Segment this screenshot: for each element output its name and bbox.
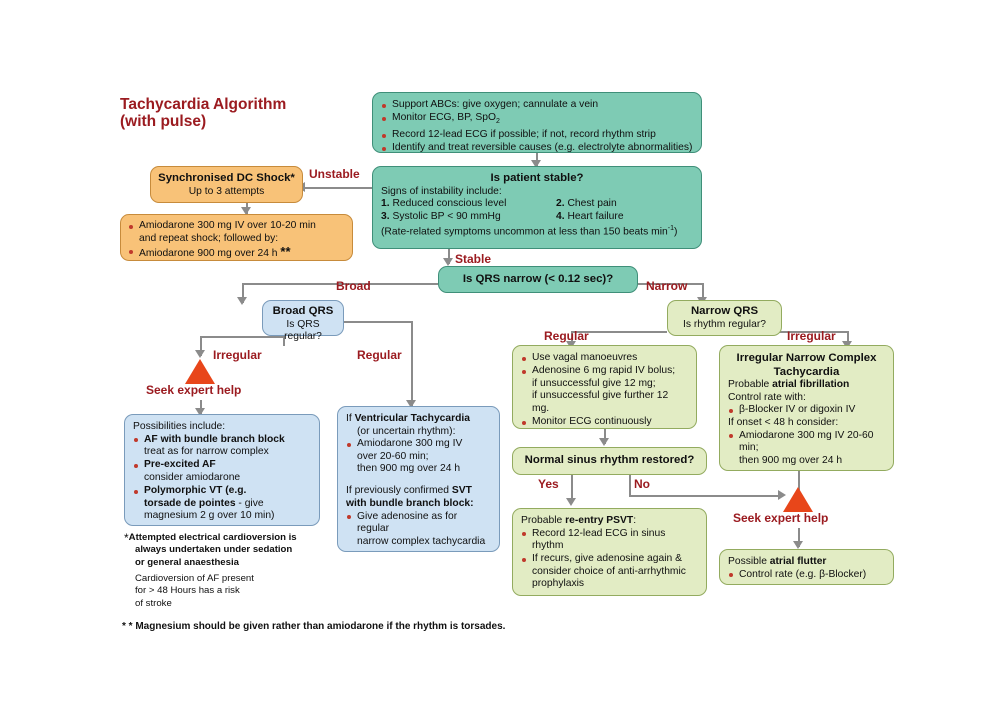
psvt-b2-l3: prophylaxis: [532, 578, 584, 589]
irrnarrow-b2-l1: Amiodarone 300 mg IV 20-60 min;: [739, 430, 874, 454]
vt-line-3: If previously confirmed SVT: [346, 485, 491, 498]
psvt-b2-l1: If recurs, give adenosine again &: [532, 553, 682, 564]
label-broad: Broad: [336, 280, 371, 293]
vt-l4-bold: with bundle branch block:: [346, 498, 474, 509]
psvt-l1-bold: re-entry PSVT: [565, 515, 633, 526]
vt-b1-l1: Amiodarone 300 mg IV: [357, 438, 462, 449]
initial-item-1: Support ABCs: give oxygen; cannulate a v…: [381, 99, 693, 112]
arrow-vagal-to-sinus: [599, 438, 609, 446]
vt-line-4: with bundle branch block:: [346, 498, 491, 511]
vt-line-2: (or uncertain rhythm):: [346, 426, 491, 439]
flowchart-canvas: Tachycardia Algorithm (with pulse): [0, 0, 1000, 707]
box-is-qrs-narrow[interactable]: Is QRS narrow (< 0.12 sec)?: [438, 266, 638, 293]
connector-no-v: [629, 475, 631, 496]
footnote-star: *Attempted electrical cardioversion is a…: [124, 532, 339, 569]
box-amiodarone-unstable[interactable]: Amiodarone 300 mg IV over 10-20 min and …: [120, 214, 353, 261]
label-unstable: Unstable: [309, 168, 360, 181]
connector-unstable-h: [303, 187, 375, 189]
amio-unstable-item-1: Amiodarone 300 mg IV over 10-20 min and …: [128, 220, 345, 245]
possibilities-intro: Possibilities include:: [133, 421, 311, 434]
psvt-b1-l1: Record 12-lead ECG in sinus: [532, 528, 665, 539]
seek-expert-help-left: Seek expert help: [146, 384, 241, 397]
narrow-qrs-sub: Is rhythm regular?: [672, 319, 777, 332]
footnote-star-l1: Attempted electrical cardioversion is: [129, 532, 297, 543]
label-irregular-narrow: Irregular: [787, 330, 836, 343]
vagal-bullet-3: Monitor ECG continuously: [521, 416, 688, 429]
vt-bullet-2: Give adenosine as for regular narrow com…: [346, 511, 491, 549]
label-narrow: Narrow: [646, 280, 687, 293]
amio-unstable-l3: Amiodarone 900 mg over 24 h: [139, 248, 278, 259]
arrow-stable-down: [443, 258, 453, 266]
possibility-item-3: Polymorphic VT (e.g. torsade de pointes …: [133, 485, 311, 523]
sinus-restored-title: Normal sinus rhythm restored?: [517, 454, 702, 468]
vt-l3-bold: SVT: [452, 485, 472, 496]
vt-bullet-1: Amiodarone 300 mg IV over 20-60 min; the…: [346, 438, 491, 476]
box-initial-assessment[interactable]: Support ABCs: give oxygen; cannulate a v…: [372, 92, 702, 153]
vt-b2-l1: Give adenosine as for regular: [357, 511, 457, 535]
possibility-3-rest: - give: [236, 498, 264, 509]
qrs-narrow-title: Is QRS narrow (< 0.12 sec)?: [445, 273, 631, 287]
irrnarrow-line-1: Probable atrial fibrillation: [728, 379, 885, 392]
vt-b1-l3: then 900 mg over 24 h: [357, 463, 460, 474]
box-ventricular-tachycardia[interactable]: If Ventricular Tachycardia (or uncertain…: [337, 406, 500, 552]
initial-item-4: Identify and treat reversible causes (e.…: [381, 142, 693, 155]
possibility-3-bold: Polymorphic VT (e.g.: [144, 485, 246, 496]
box-sinus-restored[interactable]: Normal sinus rhythm restored?: [512, 447, 707, 475]
vt-line-1: If Ventricular Tachycardia: [346, 413, 491, 426]
irrnarrow-b2-l2: then 900 mg over 24 h: [739, 455, 842, 466]
vt-l1-pre: If: [346, 413, 355, 424]
psvt-bullet-1: Record 12-lead ECG in sinus rhythm: [521, 528, 698, 553]
patient-stable-title: Is patient stable?: [381, 172, 693, 186]
irrnarrow-l1-bold: atrial fibrillation: [772, 379, 849, 390]
psvt-line-1: Probable re-entry PSVT:: [521, 515, 698, 528]
vagal-b2-l3: if unsuccessful give further 12 mg.: [532, 390, 668, 414]
label-regular-broad: Regular: [357, 349, 402, 362]
possibility-1-bold: AF with bundle branch block: [144, 434, 285, 445]
possibility-item-1: AF with bundle branch block treat as for…: [133, 434, 311, 459]
irrnarrow-title-2: Tachycardia: [728, 366, 885, 380]
possibility-3-bold2: torsade de pointes: [144, 498, 236, 509]
amio-unstable-l2: and repeat shock; followed by:: [139, 233, 278, 244]
vagal-b2-l2: if unsuccessful give 12 mg;: [532, 378, 656, 389]
irrnarrow-title-1: Irregular Narrow Complex: [728, 352, 885, 366]
dc-shock-title: Synchronised DC Shock*: [157, 172, 296, 186]
box-is-patient-stable[interactable]: Is patient stable? Signs of instability …: [372, 166, 702, 249]
vt-l1-bold: Ventricular Tachycardia: [355, 413, 470, 424]
box-possibilities[interactable]: Possibilities include: AF with bundle br…: [124, 414, 320, 526]
instability-sign-2: 2. Chest pain: [556, 198, 624, 211]
initial-item-3: Record 12-lead ECG if possible; if not, …: [381, 129, 693, 142]
label-regular-narrow: Regular: [544, 330, 589, 343]
psvt-b1-l2: rhythm: [532, 540, 563, 551]
seek-expert-help-right: Seek expert help: [733, 512, 828, 525]
irrnarrow-bullet-2: Amiodarone 300 mg IV 20-60 min; then 900…: [728, 430, 885, 468]
irrnarrow-bullet-1: β-Blocker IV or digoxin IV: [728, 404, 885, 417]
footnote-star-l2: always undertaken under sedation: [124, 544, 339, 556]
possibility-3-sub: magnesium 2 g over 10 min): [144, 510, 275, 521]
possibility-item-2: Pre-excited AF consider amiodarone: [133, 459, 311, 484]
arrow-irregular-left: [195, 350, 205, 358]
dc-shock-sub: Up to 3 attempts: [157, 186, 296, 199]
box-dc-shock[interactable]: Synchronised DC Shock* Up to 3 attempts: [150, 166, 303, 203]
irrnarrow-line-2: Control rate with:: [728, 392, 885, 405]
footnote-note-l1: Cardioversion of AF present: [135, 573, 254, 584]
label-stable: Stable: [455, 253, 491, 266]
box-atrial-flutter[interactable]: Possible atrial flutter Control rate (e.…: [719, 549, 894, 585]
vagal-b2-l1: Adenosine 6 mg rapid IV bolus;: [532, 365, 675, 376]
arrow-broad-down: [237, 297, 247, 305]
instability-sign-3: 3. Systolic BP < 90 mmHg: [381, 211, 556, 224]
amio-unstable-item-2: Amiodarone 900 mg over 24 h **: [128, 246, 345, 261]
instability-sign-4: 4. Heart failure: [556, 211, 624, 224]
possibility-1-sub: treat as for narrow complex: [144, 446, 269, 457]
broad-qrs-sub: Is QRS regular?: [267, 319, 339, 344]
footnote-cardioversion: Cardioversion of AF present for > 48 Hou…: [135, 573, 340, 610]
arrow-yes-down: [566, 498, 576, 506]
initial-item-2: Monitor ECG, BP, SpO2: [381, 112, 693, 129]
vagal-bullet-2: Adenosine 6 mg rapid IV bolus; if unsucc…: [521, 365, 688, 415]
instability-sign-1: 1. Reduced conscious level: [381, 198, 556, 211]
label-irregular-broad: Irregular: [213, 349, 262, 362]
box-irregular-narrow-complex[interactable]: Irregular Narrow Complex Tachycardia Pro…: [719, 345, 894, 471]
psvt-bullet-2: If recurs, give adenosine again & consid…: [521, 553, 698, 591]
vagal-bullet-1: Use vagal manoeuvres: [521, 352, 688, 365]
patient-stable-intro: Signs of instability include:: [381, 186, 693, 199]
arrow-seek-right-down: [793, 541, 803, 549]
amio-unstable-l1: Amiodarone 300 mg IV over 10-20 min: [139, 220, 316, 231]
vt-b1-l2: over 20-60 min;: [357, 451, 429, 462]
box-narrow-qrs[interactable]: Narrow QRS Is rhythm regular?: [667, 300, 782, 336]
vt-l3-pre: If previously confirmed: [346, 485, 452, 496]
flutter-l1-pre: Possible: [728, 556, 770, 567]
connector-bq-reg-v: [411, 321, 413, 406]
flutter-bullet-1: Control rate (e.g. β-Blocker): [728, 569, 885, 582]
title-line-1: Tachycardia Algorithm: [120, 96, 286, 113]
psvt-l1-post: :: [633, 515, 636, 526]
label-yes: Yes: [538, 478, 559, 491]
flutter-l1-bold: atrial flutter: [770, 556, 827, 567]
footnote-magnesium: * * Magnesium should be given rather tha…: [122, 620, 505, 633]
irrnarrow-line-3: If onset < 48 h consider:: [728, 417, 885, 430]
connector-no-h: [629, 495, 782, 497]
warning-triangle-icon-right: [783, 487, 813, 512]
box-broad-qrs[interactable]: Broad QRS Is QRS regular?: [262, 300, 344, 336]
footnote-star-l3: or general anaesthesia: [124, 557, 339, 569]
warning-triangle-icon-left: [185, 359, 215, 384]
possibility-2-bold: Pre-excited AF: [144, 459, 216, 470]
box-vagal-manoeuvres[interactable]: Use vagal manoeuvres Adenosine 6 mg rapi…: [512, 345, 697, 429]
patient-stable-note: (Rate-related symptoms uncommon at less …: [381, 223, 693, 239]
vt-b2-l2: narrow complex tachycardia: [357, 536, 485, 547]
page-title: Tachycardia Algorithm (with pulse): [120, 96, 286, 130]
amio-unstable-asterisks: **: [280, 244, 290, 259]
psvt-l1-pre: Probable: [521, 515, 565, 526]
possibility-2-sub: consider amiodarone: [144, 472, 240, 483]
box-psvt[interactable]: Probable re-entry PSVT: Record 12-lead E…: [512, 508, 707, 596]
label-no: No: [634, 478, 650, 491]
footnote-note-l2: for > 48 Hours has a risk: [135, 585, 240, 596]
title-line-2: (with pulse): [120, 113, 206, 130]
flutter-line-1: Possible atrial flutter: [728, 556, 885, 569]
footnote-note-l3: of stroke: [135, 598, 172, 609]
psvt-b2-l2: consider choice of anti-arrhythmic: [532, 566, 686, 577]
irrnarrow-l1-pre: Probable: [728, 379, 772, 390]
broad-qrs-title: Broad QRS: [267, 305, 339, 319]
narrow-qrs-title: Narrow QRS: [672, 305, 777, 319]
